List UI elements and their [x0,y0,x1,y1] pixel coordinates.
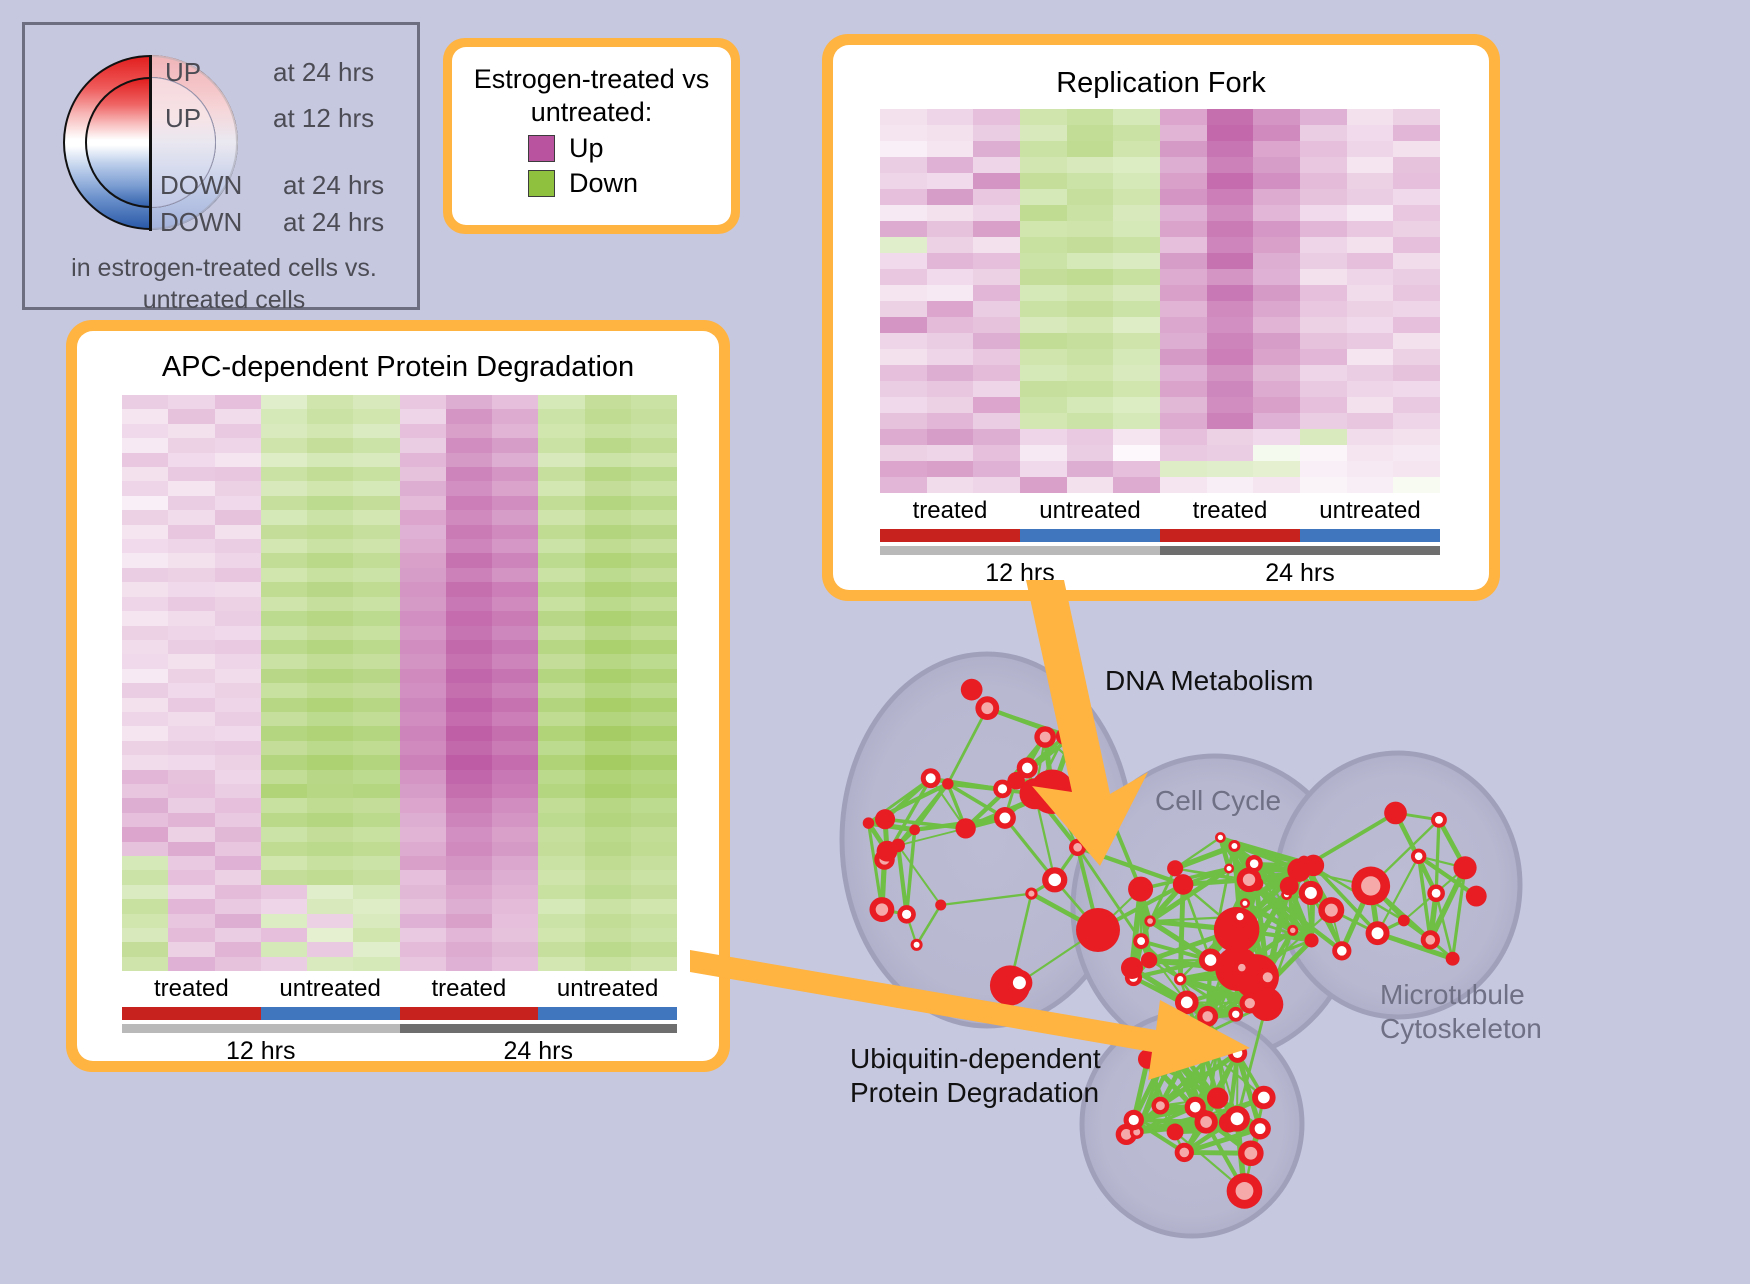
heatmap-cell [492,539,538,553]
heatmap-row [122,712,677,726]
heatmap-cell [1207,429,1254,445]
heatmap-cell [585,942,631,956]
heatmap-cell [492,553,538,567]
heatmap-cell [307,942,353,956]
heatmap-cell [1253,413,1300,429]
heatmap-cell [538,741,584,755]
heatmap-cell [1020,285,1067,301]
heatmap-cell [122,438,168,452]
heatmap-cell [1300,381,1347,397]
heatmap-cell [1300,317,1347,333]
node-outer [1128,877,1153,902]
heatmap-cell [400,942,446,956]
heatmap-cell [261,626,307,640]
heatmap-cell [122,626,168,640]
heatmap-cell [1020,109,1067,125]
heatmap-cell [585,741,631,755]
heatmap-cell [492,568,538,582]
time-bar-segment [400,1024,678,1033]
heatmap-cell [168,942,214,956]
heatmap-cell [215,510,261,524]
heatmap-cell [215,784,261,798]
heatmap-cell [1067,413,1114,429]
heatmap-cell [973,237,1020,253]
heatmap-cell [400,885,446,899]
heatmap-cell [1253,173,1300,189]
node-core [1290,928,1295,933]
network-node[interactable] [1453,856,1476,879]
heatmap-cell [168,928,214,942]
heatmap-cell [307,698,353,712]
figure-canvas: UP at 24 hrs UP at 12 hrs DOWN at 24 hrs… [0,0,1750,1279]
heatmap-cell [215,928,261,942]
heatmap-cell [307,626,353,640]
heatmap-cell [492,827,538,841]
heatmap-cell [1393,189,1440,205]
heatmap-cell [973,253,1020,269]
heatmap-cell [880,461,927,477]
network-node[interactable] [1366,921,1390,945]
heatmap-cell [122,409,168,423]
heatmap-cell [1300,237,1347,253]
heatmap-cell [122,698,168,712]
heatmap-cell [538,798,584,812]
heatmap-cell [168,784,214,798]
network-node[interactable] [875,809,895,829]
heatmap-cell [1207,205,1254,221]
heatmap-cell [446,539,492,553]
node-core [1190,1102,1201,1113]
network-node[interactable] [1185,1097,1206,1118]
heatmap-cell [215,467,261,481]
colorwheel-caption: in estrogen-treated cells vs. untreated … [25,253,423,316]
heatmap-cell [1393,397,1440,413]
heatmap-row [122,914,677,928]
network-node[interactable] [1318,897,1344,923]
heatmap-cell [492,669,538,683]
heatmap-cell [168,640,214,654]
heatmap-cell [973,109,1020,125]
heatmap-cell [261,770,307,784]
network-node[interactable] [1128,877,1153,902]
network-node[interactable] [1299,881,1323,905]
heatmap-cell [446,496,492,510]
heatmap-cell [973,429,1020,445]
heatmap-cell [122,813,168,827]
heatmap-cell [585,928,631,942]
heatmap-cell [353,914,399,928]
heatmap-cell [261,741,307,755]
network-node[interactable] [909,824,920,835]
heatmap-cell [492,842,538,856]
heatmap-cell [1020,221,1067,237]
heatmap-cell [1253,477,1300,493]
heatmap-cell [538,784,584,798]
heatmap-row [880,125,1440,141]
panel-title-replication-fork: Replication Fork [833,67,1489,100]
network-node[interactable] [897,905,916,924]
heatmap-row [122,539,677,553]
node-core [1361,876,1380,895]
heatmap-row [122,611,677,625]
heatmap-cell [973,477,1020,493]
heatmap-cell [353,957,399,971]
heatmap-cell [538,611,584,625]
heatmap-cell [215,539,261,553]
heatmap-cell [168,525,214,539]
heatmap-cell [631,582,677,596]
heatmap-cell [973,445,1020,461]
heatmap-cell [631,770,677,784]
network-node[interactable] [1238,1140,1264,1166]
heatmap-row [122,597,677,611]
heatmap-cell [215,409,261,423]
network-node[interactable] [1042,867,1067,892]
heatmap-cell [1347,189,1394,205]
heatmap-cell [1067,221,1114,237]
treatment-bar-segment [1160,529,1300,542]
heatmap-cell [1393,141,1440,157]
treatment-bar-segment [880,529,1020,542]
heatmap-cell [446,784,492,798]
heatmap-cell [122,726,168,740]
network-node[interactable] [1240,898,1250,908]
heatmap-cell [1347,221,1394,237]
heatmap-cell [400,712,446,726]
heatmap-cell [585,409,631,423]
heatmap-cell [1020,365,1067,381]
heatmap-cell [446,424,492,438]
heatmap-cell [538,942,584,956]
heatmap-row [880,477,1440,493]
heatmap-cell [122,870,168,884]
heatmap-cell [307,798,353,812]
heatmap-cell [1113,253,1160,269]
heatmap-cell [400,496,446,510]
heatmap-cell [631,525,677,539]
network-node[interactable] [1280,877,1299,896]
heatmap-cell [492,712,538,726]
heatmap-row [880,189,1440,205]
heatmap-cell [446,842,492,856]
heatmap-cell [1300,461,1347,477]
node-core [1028,891,1034,897]
heatmap-cell [215,525,261,539]
heatmap-cell [261,597,307,611]
network-node[interactable] [1233,909,1248,924]
heatmap-cell [353,870,399,884]
heatmap-cell [168,539,214,553]
node-outer [1384,802,1407,825]
network-node[interactable] [1304,933,1318,947]
heatmap-cell [1347,381,1394,397]
heatmap-cell [400,827,446,841]
heatmap-cell [168,770,214,784]
network-node[interactable] [1351,867,1390,906]
heatmap-cell [353,553,399,567]
heatmap-cell [1020,413,1067,429]
heatmap-cell [1020,141,1067,157]
heatmap-cell [168,467,214,481]
network-node[interactable] [891,839,905,853]
network-node[interactable] [1224,1106,1250,1132]
heatmap-cell [1207,269,1254,285]
group-label: treated [122,975,261,1003]
group-label: untreated [538,975,677,1003]
network-node[interactable] [869,897,894,922]
heatmap-cell [1113,221,1160,237]
updown-key-box: Estrogen-treated vs untreated: Up Down [443,38,740,234]
network-node[interactable] [1384,802,1407,825]
heatmap-cell [446,942,492,956]
heatmap-cell [168,813,214,827]
heatmap-cell [880,397,927,413]
heatmap-cell [215,942,261,956]
heatmap-cell [1113,189,1160,205]
heatmap-cell [585,798,631,812]
heatmap-cell [585,438,631,452]
heatmap-cell [585,467,631,481]
heatmap-cell [492,726,538,740]
heatmap-cell [400,409,446,423]
group-label: untreated [261,975,400,1003]
treatment-bar-segment [122,1007,261,1020]
heatmap-cell [168,870,214,884]
network-node[interactable] [1144,915,1155,926]
heatmap-cell [168,611,214,625]
heatmap-cell [215,611,261,625]
heatmap-cell [1160,125,1207,141]
network-node[interactable] [1421,930,1440,949]
heatmap-cell [307,611,353,625]
heatmap-cell [538,842,584,856]
network-node[interactable] [1167,1124,1184,1141]
heatmap-cell [585,453,631,467]
network-node[interactable] [1175,1143,1194,1162]
heatmap-row [122,510,677,524]
heatmap-cell [307,755,353,769]
heatmap-cell [400,755,446,769]
heatmap-cell [1300,365,1347,381]
heatmap-cell [261,827,307,841]
node-core [1244,1147,1257,1160]
heatmap-cell [215,640,261,654]
heatmap-cell [353,409,399,423]
network-node[interactable] [863,817,874,828]
network-node[interactable] [1332,941,1351,960]
node-outer [935,899,946,910]
network-node[interactable] [1446,952,1460,966]
colorwheel-diagram [63,47,243,282]
heatmap-cell [585,726,631,740]
heatmap-row [122,395,677,409]
network-node[interactable] [1227,1173,1263,1209]
heatmap-cell [400,438,446,452]
heatmap-cell [307,395,353,409]
network-node[interactable] [1124,1110,1144,1130]
heatmap-cell [261,395,307,409]
heatmap-cell [215,741,261,755]
heatmap-cell [880,237,927,253]
heatmap-cell [585,885,631,899]
heatmap-cell [168,626,214,640]
heatmap-cell [215,683,261,697]
heatmap-cell [1020,333,1067,349]
treatment-bar-replication-fork [880,529,1440,542]
heatmap-row [122,568,677,582]
heatmap-cell [1160,413,1207,429]
heatmap-cell [353,424,399,438]
heatmap-cell [1207,461,1254,477]
network-node[interactable] [921,768,941,788]
colorwheel-legend: UP at 24 hrs UP at 12 hrs DOWN at 24 hrs… [22,22,420,310]
heatmap-cell [1113,173,1160,189]
heatmap-cell [353,899,399,913]
heatmap-cell [1300,445,1347,461]
heatmap-row [880,381,1440,397]
heatmap-cell [1253,381,1300,397]
heatmap-row [122,957,677,971]
heatmap-cell [215,827,261,841]
heatmap-cell [585,669,631,683]
heatmap-cell [446,726,492,740]
heatmap-cell [446,856,492,870]
heatmap-cell [1393,349,1440,365]
heatmap-cell [1160,333,1207,349]
heatmap-cell [446,813,492,827]
network-node[interactable] [1466,886,1487,907]
heatmap-cell [492,899,538,913]
heatmap-cell [1207,477,1254,493]
heatmap-cell [880,189,927,205]
heatmap-row [880,173,1440,189]
heatmap-cell [1253,317,1300,333]
heatmap-cell [631,942,677,956]
heatmap-row [122,626,677,640]
network-node[interactable] [1427,884,1445,902]
heatmap-cell [1393,109,1440,125]
heatmap-cell [631,654,677,668]
heatmap-cell [168,582,214,596]
heatmap-cell [1253,429,1300,445]
network-node[interactable] [1398,915,1410,927]
network-node[interactable] [942,778,953,789]
heatmap-cell [1020,477,1067,493]
heatmap-cell [400,597,446,611]
heatmap-cell [400,510,446,524]
key-item-down: Down [464,168,719,199]
heatmap-cell [446,827,492,841]
network-node[interactable] [1249,1118,1271,1140]
heatmap-cell [215,568,261,582]
heatmap-row [122,827,677,841]
heatmap-cell [215,842,261,856]
heatmap-cell [492,582,538,596]
heatmap-cell [973,173,1020,189]
heatmap-cell [168,597,214,611]
network-node[interactable] [1287,925,1298,936]
heatmap-cell [400,870,446,884]
heatmap-cell [585,842,631,856]
heatmap-cell [122,784,168,798]
heatmap-cell [400,481,446,495]
network-node[interactable] [1025,887,1037,899]
heatmap-cell [168,669,214,683]
heatmap-cell [168,914,214,928]
heatmap-cell [307,467,353,481]
heatmap-cell [1020,125,1067,141]
network-node[interactable] [1151,1097,1169,1115]
key-label-up: Up [569,133,661,164]
heatmap-cell [168,424,214,438]
heatmap-cell [122,856,168,870]
time-bar-replication-fork [880,546,1440,555]
heatmap-cell [261,438,307,452]
heatmap-cell [122,899,168,913]
heatmap-cell [585,899,631,913]
heatmap-cell [1300,333,1347,349]
group-label: untreated [1300,497,1440,525]
heatmap-cell [261,957,307,971]
heatmap-cell [261,467,307,481]
heatmap-cell [973,125,1020,141]
heatmap-cell [1160,205,1207,221]
heatmap-cell [1160,141,1207,157]
heatmap-cell [1347,397,1394,413]
network-node[interactable] [1173,874,1194,895]
heatmap-cell [168,899,214,913]
heatmap-cell [122,885,168,899]
heatmap-cell [538,510,584,524]
heatmap-cell [261,409,307,423]
heatmap-cell [585,712,631,726]
network-node[interactable] [935,899,946,910]
heatmap-cell [538,885,584,899]
heatmap-cell [261,481,307,495]
heatmap-cell [215,755,261,769]
group-label: treated [880,497,1020,525]
heatmap-cell [1393,429,1440,445]
network-node[interactable] [1431,812,1447,828]
heatmap-cell [1393,413,1440,429]
heatmap-cell [1253,365,1300,381]
heatmap-cell [631,813,677,827]
heatmap-cell [1300,397,1347,413]
heatmap-cell [1347,349,1394,365]
heatmap-cell [1253,253,1300,269]
heatmap-cell [307,553,353,567]
heatmap-cell [538,899,584,913]
node-core [1048,874,1061,887]
heatmap-cell [538,755,584,769]
heatmap-cell [1207,189,1254,205]
heatmap-cell [1347,173,1394,189]
heatmap-cell [307,539,353,553]
group-label: treated [1160,497,1300,525]
heatmap-cell [1113,125,1160,141]
heatmap-row [880,301,1440,317]
heatmap-cell [1253,205,1300,221]
network-node[interactable] [1411,849,1426,864]
heatmap-cell [168,510,214,524]
network-node[interactable] [1207,1087,1228,1108]
node-outer [863,817,874,828]
heatmap-row [122,813,677,827]
heatmap-cell [168,553,214,567]
heatmap-cell [215,856,261,870]
heatmap-cell [585,395,631,409]
heatmap-cell [307,438,353,452]
